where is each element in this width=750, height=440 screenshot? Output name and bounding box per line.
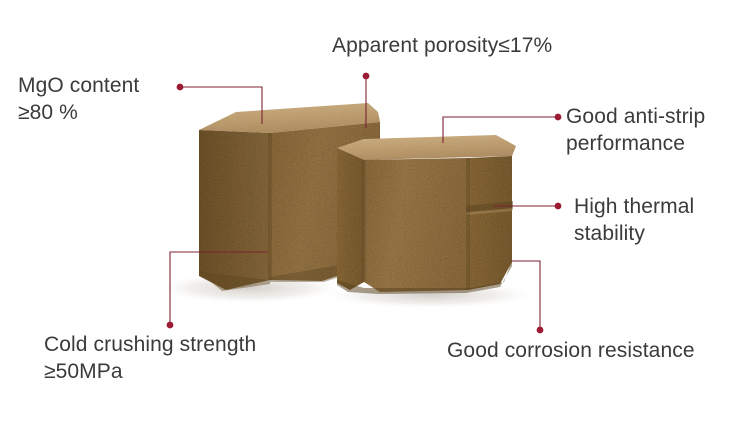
callout-anti-strip-performance-line: [443, 117, 558, 143]
callout-mgo-content-line: [180, 87, 262, 124]
callout-mgo-content-dot: [177, 84, 184, 91]
callout-anti-strip-performance-dot: [555, 114, 562, 121]
callout-good-corrosion-resistance-line: [512, 261, 540, 330]
callout-high-thermal-stability-dot: [555, 203, 562, 210]
callout-label-anti-strip-performance: Good anti-strip performance: [566, 103, 705, 157]
callout-good-corrosion-resistance-dot: [537, 327, 544, 334]
callout-label-high-thermal-stability: High thermal stability: [574, 193, 694, 247]
callout-label-mgo-content: MgO content ≥80 %: [18, 72, 139, 126]
callout-label-cold-crushing-strength: Cold crushing strength ≥50MPa: [44, 331, 256, 385]
callout-label-corrosion-resistance: Good corrosion resistance: [447, 337, 695, 364]
callout-apparent-porosity-dot: [363, 73, 370, 80]
callout-cold-crushing-strength-dot: [167, 322, 174, 329]
product-feature-infographic: MgO content ≥80 % Apparent porosity≤17% …: [0, 0, 750, 440]
callout-label-apparent-porosity: Apparent porosity≤17%: [332, 32, 552, 59]
callout-cold-crushing-strength-line: [170, 252, 268, 325]
